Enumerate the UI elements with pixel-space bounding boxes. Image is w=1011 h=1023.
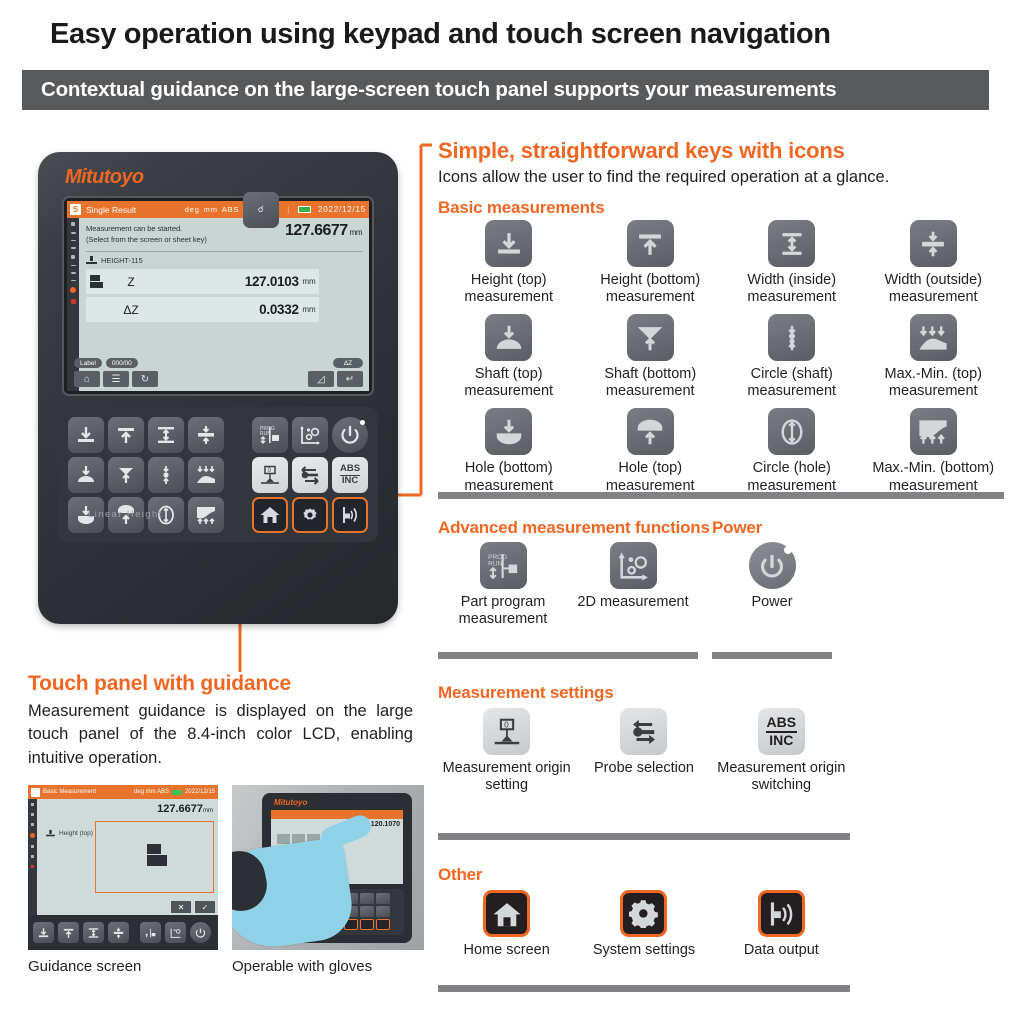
rail-dot (31, 803, 34, 806)
unit-deg: deg (185, 205, 200, 214)
screen-button-row: ⌂ ☰ ↻ ◿ ↵ (67, 371, 369, 391)
divider-other (438, 985, 850, 992)
item-label: System settings (593, 942, 695, 959)
label-line1: Height (top) (471, 272, 547, 288)
section-title-other: Other (438, 865, 482, 885)
home-button[interactable]: ⌂ (74, 371, 100, 387)
key-height-bottom[interactable] (58, 922, 79, 943)
rail-dot (31, 823, 34, 826)
advanced-functions-grid: PROG RUN Part program measurement (438, 542, 698, 628)
item-height-top[interactable]: Height (top) measurement (438, 220, 580, 306)
photo1-battery-icon (172, 790, 182, 795)
label-line1: Shaft (bottom) (604, 366, 696, 382)
list-button[interactable]: ☰ (103, 371, 129, 387)
screen-bottom-bar: Label 000/00 ΔZ ⌂ ☰ ↻ ◿ ↵ (67, 358, 369, 391)
label-line2: measurement (459, 611, 548, 627)
key-width-inside[interactable] (148, 417, 184, 453)
label-line1: Probe selection (594, 760, 694, 776)
measurement-settings-grid: 0 Measurement origin setting (438, 708, 850, 794)
key-home[interactable] (252, 497, 288, 533)
item-label: Shaft (bottom) measurement (604, 366, 696, 400)
label-line2: measurement (747, 289, 836, 305)
item-label: Width (outside) measurement (884, 272, 982, 306)
divider-basic (438, 492, 1004, 499)
screen-feature-row: HEIGHT-115 (86, 256, 363, 265)
item-width-inside[interactable]: Width (inside) measurement (721, 220, 863, 306)
keypad-function-keys: PROGRUN 0 ABS INC (252, 417, 368, 533)
item-label: Hole (top) measurement (606, 460, 695, 494)
circle-shaft-icon (768, 314, 815, 361)
key-height-bottom[interactable] (108, 417, 144, 453)
cancel-button[interactable]: ✕ (171, 901, 191, 913)
gear-icon (620, 890, 667, 937)
section-title-basic-measurements: Basic measurements (438, 198, 605, 218)
photo1-screen-body: 127.6677mm Height (top) ✕ ✓ (28, 799, 218, 915)
label-line2: measurement (464, 383, 553, 399)
key-shaft-top[interactable] (68, 457, 104, 493)
abs-inc-label: ABS INC (340, 464, 360, 485)
photo1-value-number: 127.6677 (157, 803, 203, 815)
screen-pill-row: Label 000/00 ΔZ (67, 358, 369, 371)
other-grid: Home screen System settings (438, 890, 850, 959)
circle-hole-icon (768, 408, 815, 455)
key-system-settings[interactable] (292, 497, 328, 533)
touch-panel-text: Measurement guidance is displayed on the… (28, 700, 413, 770)
label-line1: Home screen (464, 942, 550, 958)
label-line1: Height (bottom) (600, 272, 700, 288)
label-line1: Measurement origin (443, 760, 571, 776)
item-abs-inc[interactable]: ABS INC Measurement origin switching (713, 708, 850, 794)
photo1-date: 2022/12/15 (185, 789, 215, 795)
item-hole-bottom[interactable]: Hole (bottom) measurement (438, 408, 580, 494)
return-button[interactable]: ↵ (337, 371, 363, 387)
section-title-advanced: Advanced measurement functions (438, 518, 710, 538)
label-line1: Data output (744, 942, 819, 958)
screen-divider (86, 251, 363, 252)
result-unit: mm (299, 305, 319, 314)
item-circle-hole[interactable]: Circle (hole) measurement (721, 408, 863, 494)
probe-selection-icon (620, 708, 667, 755)
max-min-bottom-icon (910, 408, 957, 455)
rail-dash (71, 247, 76, 249)
photo1-units: deg mm ABS (134, 789, 169, 795)
step-shape-glyph (147, 844, 173, 878)
label-line1: Circle (shaft) (751, 366, 833, 382)
result-value: 0.0332 (152, 302, 299, 317)
rail-dot (71, 222, 75, 226)
label-line1: Width (outside) (884, 272, 982, 288)
item-label: Power (751, 594, 792, 611)
abs-inc-icon: ABS INC (758, 708, 805, 755)
home-icon (483, 890, 530, 937)
key-width-outside[interactable] (108, 922, 129, 943)
rail-indicator-orange (30, 833, 35, 838)
width-inside-icon (768, 220, 815, 267)
photo1-rail (28, 799, 37, 915)
label-line1: Width (inside) (747, 272, 836, 288)
key-height-top[interactable] (68, 417, 104, 453)
rail-dot (31, 813, 34, 816)
item-label: Measurement origin switching (717, 760, 845, 794)
abs-text: ABS (766, 715, 798, 733)
photo2-brand: Mitutoyo (274, 798, 307, 807)
device-illustration: Mitutoyo S Single Result deg mm ABS ☌ | … (38, 152, 398, 624)
delta-z-pill[interactable]: ΔZ (333, 358, 363, 368)
rail-dash (71, 232, 76, 234)
2d-measurement-icon (610, 542, 657, 589)
item-label: Width (inside) measurement (747, 272, 836, 306)
key-system-settings[interactable] (360, 919, 374, 930)
label-line1: Measurement origin (717, 760, 845, 776)
device-model-text: Linear Height (88, 509, 163, 520)
subtitle-banner: Contextual guidance on the large-screen … (22, 70, 989, 110)
item-label: Shaft (top) measurement (464, 366, 553, 400)
max-min-top-icon (910, 314, 957, 361)
item-2d-measurement[interactable]: 2D measurement (568, 542, 698, 628)
item-label: Home screen (464, 942, 550, 959)
item-label: Max.-Min. (bottom) measurement (872, 460, 994, 494)
item-power[interactable]: Power (749, 542, 796, 611)
item-part-program[interactable]: PROG RUN Part program measurement (438, 542, 568, 628)
item-shaft-top[interactable]: Shaft (top) measurement (438, 314, 580, 400)
key-2d-measurement[interactable] (165, 922, 186, 943)
key-data-output[interactable] (376, 919, 390, 930)
key-probe-selection[interactable] (292, 457, 328, 493)
rail-indicator-red (71, 299, 76, 304)
rail-dash (71, 280, 76, 282)
item-hole-top[interactable]: Hole (top) measurement (580, 408, 722, 494)
origin-setting-icon: 0 (483, 708, 530, 755)
data-output-icon (758, 890, 805, 937)
key-height-top[interactable] (33, 922, 54, 943)
label-line1: System settings (593, 942, 695, 958)
power-led-indicator (360, 420, 365, 425)
item-label: Part program measurement (459, 594, 548, 628)
device-screen-bezel: S Single Result deg mm ABS ☌ | 2022/12/1… (62, 196, 374, 396)
part-program-icon: PROG RUN (480, 542, 527, 589)
item-probe-selection[interactable]: Probe selection (575, 708, 712, 794)
rail-dot (71, 255, 75, 259)
key-circle-shaft[interactable] (148, 457, 184, 493)
photo2-scene: Mitutoyo 120.1070 (232, 785, 424, 950)
label-line1: Shaft (top) (475, 366, 543, 382)
photo-guidance-screen: Basic Measurement deg mm ABS 2022/12/15 … (28, 785, 218, 950)
rail-dot (31, 845, 34, 848)
item-label: Hole (bottom) measurement (464, 460, 553, 494)
item-max-min-bottom[interactable]: Max.-Min. (bottom) measurement (863, 408, 1005, 494)
rail-indicator-red (31, 865, 34, 868)
item-width-outside[interactable]: Width (outside) measurement (863, 220, 1005, 306)
divider-advanced (438, 652, 698, 659)
key-max-min-bottom[interactable] (188, 497, 224, 533)
photo2-value: 120.1070 (371, 821, 400, 828)
left-column: Mitutoyo S Single Result deg mm ABS ☌ | … (0, 120, 425, 1020)
screen-date: 2022/12/15 (318, 205, 369, 214)
device-brand-logo: Mitutoyo (65, 166, 144, 189)
item-circle-shaft[interactable]: Circle (shaft) measurement (721, 314, 863, 400)
item-home-screen[interactable]: Home screen (438, 890, 575, 959)
photo1-value: 127.6677mm (157, 803, 213, 815)
key-shaft-bottom[interactable] (108, 457, 144, 493)
page-title: Easy operation using keypad and touch sc… (50, 18, 831, 51)
item-system-settings[interactable]: System settings (575, 890, 712, 959)
item-label: Data output (744, 942, 819, 959)
device-keypad: PROGRUN 0 ABS INC (58, 407, 378, 542)
item-origin-setting[interactable]: 0 Measurement origin setting (438, 708, 575, 794)
power-grid: Power (712, 542, 832, 611)
key-power[interactable] (190, 922, 211, 943)
photo1-feature-text: Height (top) (59, 830, 93, 837)
keys-panel-title: Simple, straightforward keys with icons (438, 138, 845, 164)
repeat-button[interactable]: ↻ (132, 371, 158, 387)
step-shape-icon (90, 275, 106, 289)
result-name: ΔZ (110, 303, 152, 317)
key-abs-inc[interactable]: ABS INC (332, 457, 368, 493)
inc-text: INC (342, 475, 358, 486)
screen-primary-value: 127.6677mm (285, 222, 362, 240)
unit-abs: ABS (222, 205, 239, 214)
screen-title: Single Result (86, 205, 136, 215)
key-data-output[interactable] (332, 497, 368, 533)
photo2-status-bar (271, 810, 403, 819)
label-line2: measurement (889, 383, 978, 399)
data-output-button[interactable]: ◿ (308, 371, 334, 387)
primary-value-unit: mm (350, 228, 362, 237)
label-line2: measurement (747, 383, 836, 399)
power-led-indicator (784, 546, 792, 554)
hole-bottom-icon (485, 408, 532, 455)
photo1-caption: Guidance screen (28, 958, 141, 975)
screen-feature-label: HEIGHT-115 (101, 256, 143, 265)
primary-value-number: 127.6677 (285, 222, 348, 239)
hole-top-icon (627, 408, 674, 455)
item-shaft-bottom[interactable]: Shaft (bottom) measurement (580, 314, 722, 400)
shaft-top-icon (485, 314, 532, 361)
screen-status-bar: S Single Result deg mm ABS ☌ | 2022/12/1… (67, 201, 369, 218)
photo1-keypad (28, 915, 218, 950)
label-line2: measurement (464, 289, 553, 305)
key-max-min-top[interactable] (188, 457, 224, 493)
keys-panel-subtitle: Icons allow the user to find the require… (438, 168, 889, 187)
rail-dot (31, 855, 34, 858)
rail-dash (71, 265, 76, 267)
height-top-mini-icon (86, 256, 97, 265)
shaft-bottom-icon (627, 314, 674, 361)
photo-strip: Basic Measurement deg mm ABS 2022/12/15 … (28, 785, 424, 950)
photo1-status-bar: Basic Measurement deg mm ABS 2022/12/15 (28, 785, 218, 799)
label-line2: measurement (606, 289, 695, 305)
result-unit: mm (299, 277, 319, 286)
key[interactable] (376, 906, 390, 917)
label-line2: switching (751, 777, 811, 793)
inc-text: INC (766, 733, 798, 748)
rail-dash (71, 272, 76, 274)
key-power[interactable] (332, 417, 368, 453)
photo1-main: 127.6677mm Height (top) ✕ ✓ (37, 799, 218, 915)
rail-indicator-orange (70, 287, 76, 293)
item-label: Height (top) measurement (464, 272, 553, 306)
label-pill[interactable]: Label (74, 358, 102, 368)
divider-power (712, 652, 832, 659)
confirm-button[interactable]: ✓ (195, 901, 215, 913)
item-label: Max.-Min. (top) measurement (885, 366, 983, 400)
zero-text: 0 (504, 720, 509, 729)
height-top-mini-icon (46, 830, 55, 837)
key-part-program[interactable]: PROGRUN (252, 417, 288, 453)
run-text: RUN (488, 560, 502, 567)
item-label: Height (bottom) measurement (600, 272, 700, 306)
divider-settings (438, 833, 850, 840)
key-width-inside[interactable] (83, 922, 104, 943)
item-height-bottom[interactable]: Height (bottom) measurement (580, 220, 722, 306)
height-top-icon (485, 220, 532, 267)
photo1-confirm-buttons: ✕ ✓ (171, 901, 215, 913)
label-line1: Hole (top) (618, 460, 682, 476)
label-line2: measurement (606, 383, 695, 399)
result-name: Z (110, 275, 152, 289)
photo1-status-right: deg mm ABS 2022/12/15 (134, 789, 218, 795)
touch-panel-title: Touch panel with guidance (28, 672, 291, 696)
result-row-z: Z 127.0103 mm (86, 269, 319, 294)
power-icon (749, 542, 796, 589)
device-screen[interactable]: S Single Result deg mm ABS ☌ | 2022/12/1… (67, 201, 369, 391)
item-label: Circle (shaft) measurement (747, 366, 836, 400)
item-data-output[interactable]: Data output (713, 890, 850, 959)
label-line1: Max.-Min. (top) (885, 366, 983, 382)
count-pill: 000/00 (106, 358, 138, 368)
width-outside-icon (910, 220, 957, 267)
section-title-measurement-settings: Measurement settings (438, 683, 614, 703)
battery-icon (298, 206, 311, 213)
item-label: Probe selection (594, 760, 694, 777)
key-width-outside[interactable] (188, 417, 224, 453)
photo1-value-unit: mm (203, 808, 213, 814)
rail-dash (71, 240, 76, 242)
label-line1: 2D measurement (577, 594, 688, 610)
unit-mm: mm (204, 205, 218, 214)
key[interactable] (376, 893, 390, 904)
photo1-screen-title: Basic Measurement (43, 789, 96, 795)
label-line1: Power (751, 594, 792, 610)
height-bottom-icon (627, 220, 674, 267)
section-title-power: Power (712, 518, 762, 538)
subtitle-text: Contextual guidance on the large-screen … (22, 78, 836, 102)
soft-key[interactable] (277, 834, 290, 844)
single-result-icon: S (70, 204, 81, 215)
result-value: 127.0103 (152, 274, 299, 289)
label-line2: measurement (889, 289, 978, 305)
basic-measurements-grid: Height (top) measurement Height (bottom)… (438, 220, 1004, 495)
photo1-feature-label: Height (top) (45, 829, 93, 838)
photo-operable-with-gloves: Mitutoyo 120.1070 (232, 785, 424, 950)
key-2d-measurement[interactable] (292, 417, 328, 453)
label-line1: Circle (hole) (753, 460, 831, 476)
label-line1: Max.-Min. (bottom) (872, 460, 994, 476)
photo2-caption: Operable with gloves (232, 958, 372, 975)
item-label: Circle (hole) measurement (747, 460, 836, 494)
label-line1: Hole (bottom) (465, 460, 553, 476)
photo1-guidance-box (95, 821, 214, 893)
item-max-min-top[interactable]: Max.-Min. (top) measurement (863, 314, 1005, 400)
key[interactable] (360, 906, 374, 917)
label-line2: setting (485, 777, 528, 793)
status-separator: | (287, 205, 290, 214)
label-line1: Part program (461, 594, 546, 610)
item-label: 2D measurement (577, 594, 688, 611)
key[interactable] (360, 893, 374, 904)
item-label: Measurement origin setting (443, 760, 571, 794)
key-part-program[interactable] (140, 922, 161, 943)
result-row-dz: ΔZ 0.0332 mm (86, 297, 319, 322)
photo1-app-icon (31, 788, 40, 797)
key-measurement-origin-setting[interactable]: 0 (252, 457, 288, 493)
